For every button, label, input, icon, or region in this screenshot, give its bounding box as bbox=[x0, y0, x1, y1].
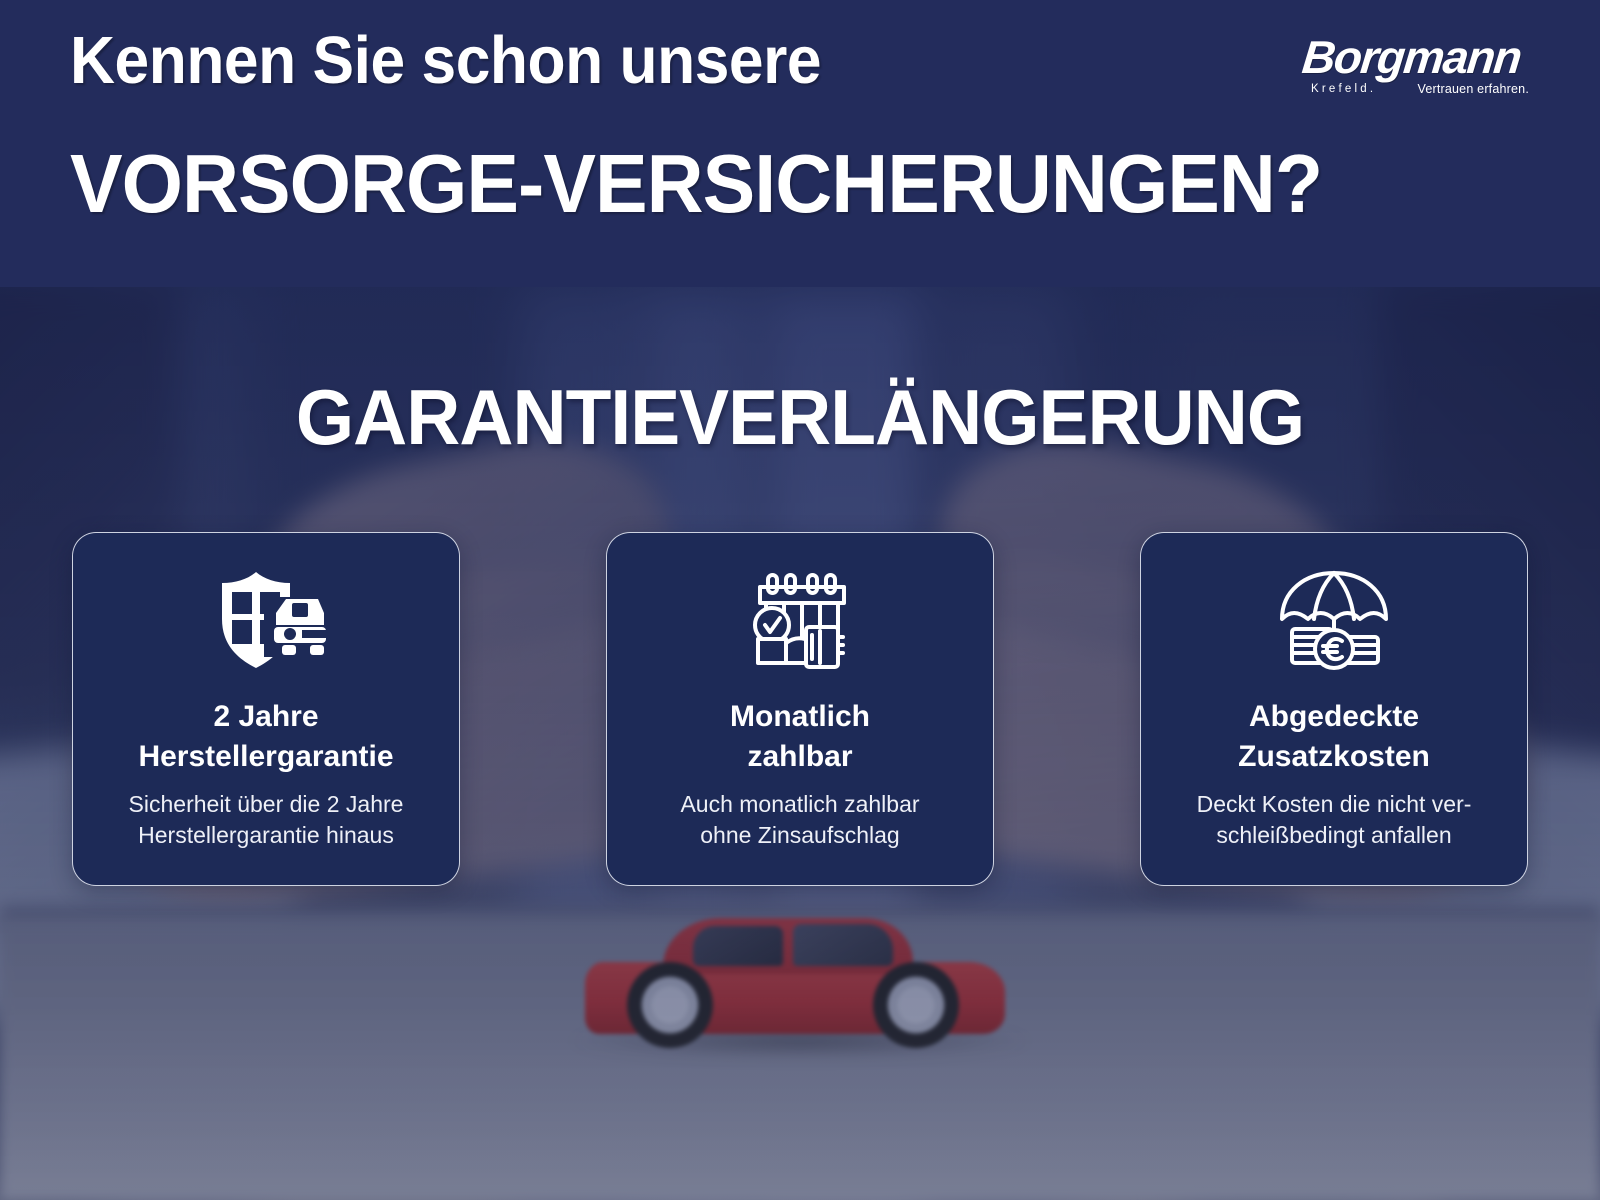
feature-card-title: Monatlich zahlbar bbox=[730, 697, 870, 776]
main-title: GARANTIEVERLÄNGERUNG bbox=[32, 378, 1568, 456]
logo-claim: Vertrauen erfahren. bbox=[1417, 82, 1529, 96]
feature-card-title-line1: Monatlich bbox=[730, 700, 870, 733]
feature-card-title-line1: 2 Jahre bbox=[213, 700, 318, 733]
feature-card-title-line2: zahlbar bbox=[747, 740, 852, 773]
logo-city: Krefeld. bbox=[1311, 83, 1376, 95]
feature-card-desc: Deckt Kosten die nicht ver- schleißbedin… bbox=[1197, 789, 1472, 851]
feature-card-desc-line2: ohne Zinsaufschlag bbox=[700, 822, 899, 848]
feature-card-list: 2 Jahre Herstellergarantie Sicherheit üb… bbox=[72, 532, 1528, 886]
feature-card-desc-line1: Deckt Kosten die nicht ver- bbox=[1197, 791, 1472, 817]
umbrella-euro-coins-icon bbox=[1274, 563, 1394, 681]
feature-card-desc-line1: Sicherheit über die 2 Jahre bbox=[129, 791, 404, 817]
feature-card-title-line2: Zusatzkosten bbox=[1238, 740, 1430, 773]
feature-card[interactable]: Abgedeckte Zusatzkosten Deckt Kosten die… bbox=[1140, 532, 1528, 886]
feature-card-desc-line1: Auch monatlich zahlbar bbox=[680, 791, 919, 817]
calendar-payment-icon bbox=[740, 563, 860, 681]
header-bar: Kennen Sie schon unsere VORSORGE-VERSICH… bbox=[0, 0, 1600, 287]
feature-card-desc: Auch monatlich zahlbar ohne Zinsaufschla… bbox=[680, 789, 919, 851]
feature-card[interactable]: 2 Jahre Herstellergarantie Sicherheit üb… bbox=[72, 532, 460, 886]
feature-card-desc-line2: Herstellergarantie hinaus bbox=[138, 822, 394, 848]
feature-card-desc-line2: schleißbedingt anfallen bbox=[1216, 822, 1451, 848]
shield-car-icon bbox=[206, 563, 326, 681]
headline-line-2: VORSORGE-VERSICHERUNGEN? bbox=[70, 142, 1322, 225]
feature-card-title-line2: Herstellergarantie bbox=[138, 740, 393, 773]
feature-card-title: 2 Jahre Herstellergarantie bbox=[138, 697, 393, 776]
headline-line-1: Kennen Sie schon unsere bbox=[70, 27, 821, 94]
logo-wordmark: Borgmann bbox=[1300, 34, 1545, 80]
logo-subline: Krefeld. Vertrauen erfahren. bbox=[1311, 82, 1529, 96]
feature-card[interactable]: Monatlich zahlbar Auch monatlich zahlbar… bbox=[606, 532, 994, 886]
feature-card-title-line1: Abgedeckte bbox=[1249, 700, 1419, 733]
borgmann-logo[interactable]: Borgmann Krefeld. Vertrauen erfahren. bbox=[1305, 34, 1545, 106]
promo-banner: Kennen Sie schon unsere VORSORGE-VERSICH… bbox=[0, 0, 1600, 1200]
feature-card-desc: Sicherheit über die 2 Jahre Herstellerga… bbox=[129, 789, 404, 851]
feature-card-title: Abgedeckte Zusatzkosten bbox=[1238, 697, 1430, 776]
